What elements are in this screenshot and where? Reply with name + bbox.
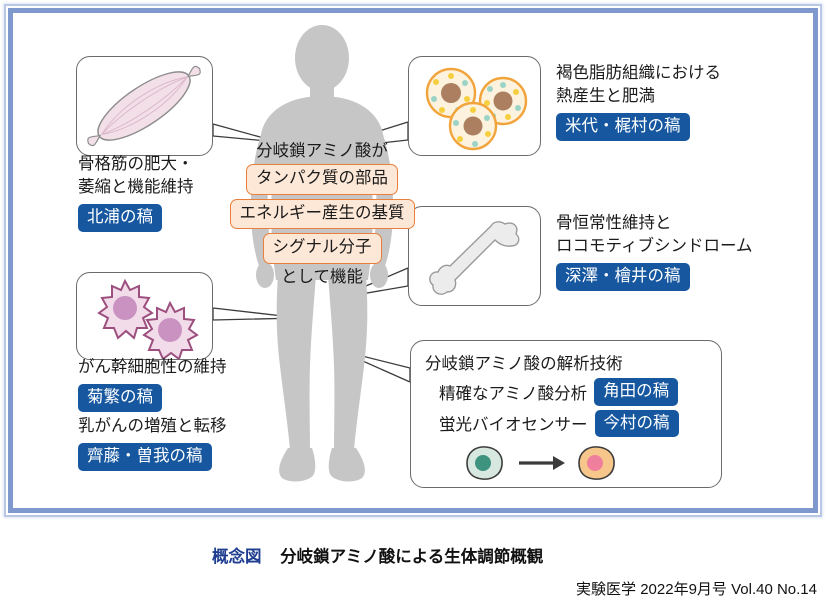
analysis-row-amino-acid: 精確なアミノ酸分析 角田の稿 (439, 378, 721, 406)
author-badge-fukazawa-hinoi[interactable]: 深澤・檜井の稿 (556, 263, 690, 291)
bcaa-trail-text: として機能 (222, 266, 422, 288)
analysis-box-title: 分岐鎖アミノ酸の解析技術 (425, 350, 721, 374)
topic-line: 骨恒常性維持と (556, 212, 753, 235)
bcaa-lead-text: 分岐鎖アミノ酸が (222, 140, 422, 162)
panel-skeletal-muscle (76, 56, 213, 156)
bcaa-tag-signaling-molecule: シグナル分子 (263, 233, 382, 264)
femur-bone-icon (409, 207, 540, 305)
cancer-stem-cells-icon (77, 273, 212, 359)
bcaa-function-stack: 分岐鎖アミノ酸が タンパク質の部品 エネルギー産生の基質 シグナル分子 として機… (222, 140, 422, 288)
topic-bone-homeostasis: 骨恒常性維持と ロコモティブシンドローム 深澤・檜井の稿 (556, 212, 753, 291)
arrow-right-icon (519, 456, 565, 470)
author-badge-imamura[interactable]: 今村の稿 (595, 410, 679, 438)
figure-caption: 概念図 分岐鎖アミノ酸による生体調節概観 (212, 543, 543, 567)
biosensor-cell-conversion-icon (461, 443, 621, 483)
topic-line: 萎縮と機能維持 (78, 176, 194, 199)
caption-title: 分岐鎖アミノ酸による生体調節概観 (280, 548, 543, 566)
topic-line: 熱産生と肥満 (556, 85, 721, 108)
caption-label: 概念図 (212, 548, 262, 566)
topic-line: ロコモティブシンドローム (556, 235, 753, 258)
analysis-row-label: 精確なアミノ酸分析 (439, 380, 587, 404)
topic-skeletal-muscle: 骨格筋の肥大・ 萎縮と機能維持 北浦の稿 (78, 153, 194, 232)
author-badge-yonashiro-kajimura[interactable]: 米代・梶村の稿 (556, 113, 690, 141)
bcaa-tag-energy-substrate: エネルギー産生の基質 (230, 199, 415, 230)
panel-brown-adipocytes (408, 56, 541, 156)
journal-attribution: 実験医学 2022年9月号 Vol.40 No.14 (576, 578, 817, 599)
author-badge-kakuda[interactable]: 角田の稿 (594, 378, 678, 406)
analysis-technology-box: 分岐鎖アミノ酸の解析技術 精確なアミノ酸分析 角田の稿 蛍光バイオセンサー 今村… (410, 340, 722, 488)
panel-cancer-stem-cells (76, 272, 213, 360)
diagram-area: 骨格筋の肥大・ 萎縮と機能維持 北浦の稿 (0, 0, 827, 611)
topic-breast-cancer: 乳がんの増殖と転移 齊藤・曽我の稿 (78, 415, 227, 471)
topic-line: がん幹細胞性の維持 (78, 356, 227, 379)
topic-line: 乳がんの増殖と転移 (78, 415, 227, 438)
skeletal-muscle-icon (77, 57, 212, 155)
author-badge-saito-soga[interactable]: 齊藤・曽我の稿 (78, 443, 212, 471)
analysis-row-biosensor: 蛍光バイオセンサー 今村の稿 (439, 410, 721, 438)
topic-line: 褐色脂肪組織における (556, 62, 721, 85)
author-badge-kikushige[interactable]: 菊繁の稿 (78, 384, 162, 412)
analysis-row-label: 蛍光バイオセンサー (439, 411, 588, 435)
bcaa-tag-protein-component: タンパク質の部品 (246, 164, 398, 195)
author-badge-kitaura[interactable]: 北浦の稿 (78, 204, 162, 232)
topic-brown-adipose: 褐色脂肪組織における 熱産生と肥満 米代・梶村の稿 (556, 62, 721, 141)
topic-cancer-stemness: がん幹細胞性の維持 菊繁の稿 (78, 356, 227, 412)
brown-adipocytes-icon (409, 57, 540, 155)
figure-canvas: 骨格筋の肥大・ 萎縮と機能維持 北浦の稿 (0, 0, 827, 611)
panel-bone (408, 206, 541, 306)
topic-line: 骨格筋の肥大・ (78, 153, 194, 176)
